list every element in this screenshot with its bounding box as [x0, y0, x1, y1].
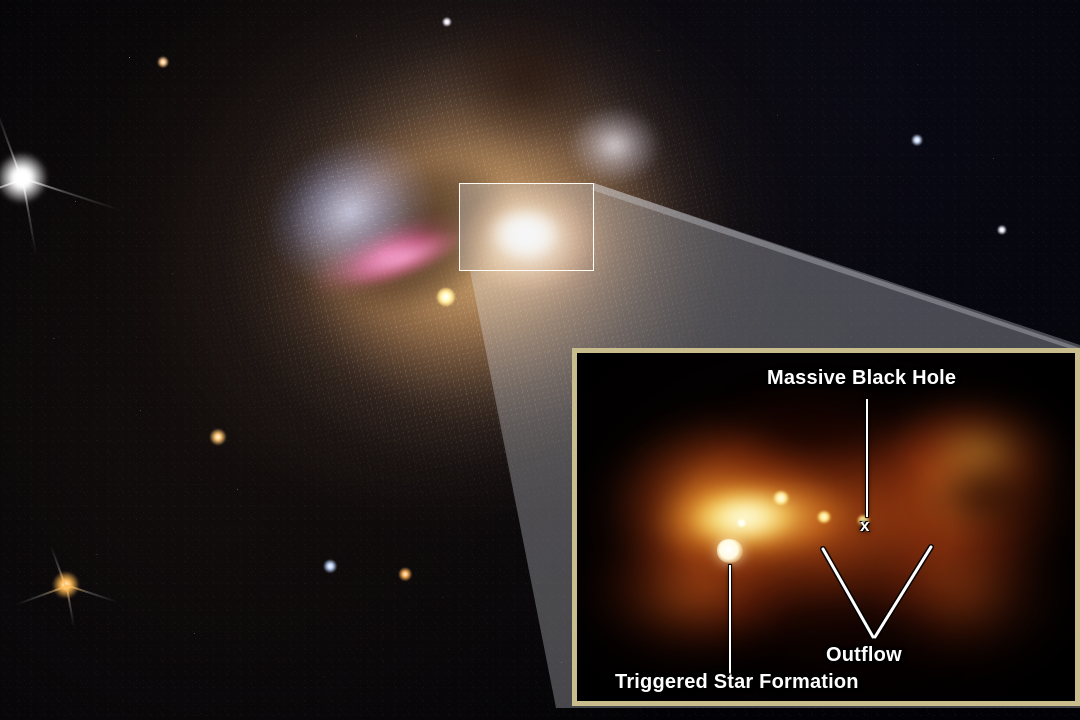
- orange-star-lower-mid: [389, 558, 421, 590]
- star-core: [442, 17, 452, 27]
- star-diffraction-spike: [15, 586, 67, 606]
- label-massive-black-hole: Massive Black Hole: [767, 367, 956, 390]
- star-diffraction-spike: [0, 106, 22, 180]
- bright-diffraction-star: [0, 118, 82, 238]
- star-diffraction-spike: [66, 586, 75, 627]
- star-diffraction-spike: [50, 547, 66, 587]
- pointer-massive-black-hole: [866, 399, 868, 517]
- star-diffraction-spike: [22, 177, 120, 210]
- galaxy-image-stage: Massive Black Hole x Outflow Triggered S…: [0, 0, 1080, 720]
- blue-star-lower-mid: [314, 550, 346, 582]
- inset-panel: Massive Black Hole x Outflow Triggered S…: [572, 348, 1080, 706]
- star-core: [997, 225, 1007, 235]
- white-star-top: [435, 10, 459, 34]
- black-hole-x-marker: x: [860, 516, 869, 536]
- pointer-triggered-star-formation: [729, 565, 731, 679]
- star-core: [911, 134, 923, 146]
- knot-bright-d: [737, 519, 746, 527]
- star-core: [436, 287, 456, 307]
- star-core: [52, 571, 79, 598]
- orange-star-mid-left: [198, 417, 238, 457]
- star-core: [0, 153, 48, 204]
- white-star-right: [990, 218, 1014, 242]
- star-diffraction-spike: [66, 584, 118, 602]
- label-triggered-star-formation: Triggered Star Formation: [615, 671, 859, 694]
- star-core: [157, 56, 169, 68]
- knot-bright-a: [773, 491, 789, 505]
- blue-star-upper-right: [903, 126, 931, 154]
- label-outflow: Outflow: [826, 644, 902, 667]
- orange-star-upper-left: [149, 48, 177, 76]
- star-core: [210, 429, 227, 446]
- star-diffraction-spike: [0, 179, 23, 215]
- inset-canvas: Massive Black Hole x Outflow Triggered S…: [577, 353, 1075, 701]
- knot-bright-b: [817, 511, 831, 523]
- star-core: [398, 567, 412, 581]
- orange-knot-below-core: [422, 273, 470, 321]
- star-core: [323, 559, 337, 573]
- triggered-star-formation-clump: [717, 539, 743, 563]
- orange-star-lower-left: [34, 553, 98, 617]
- star-diffraction-spike: [22, 179, 37, 256]
